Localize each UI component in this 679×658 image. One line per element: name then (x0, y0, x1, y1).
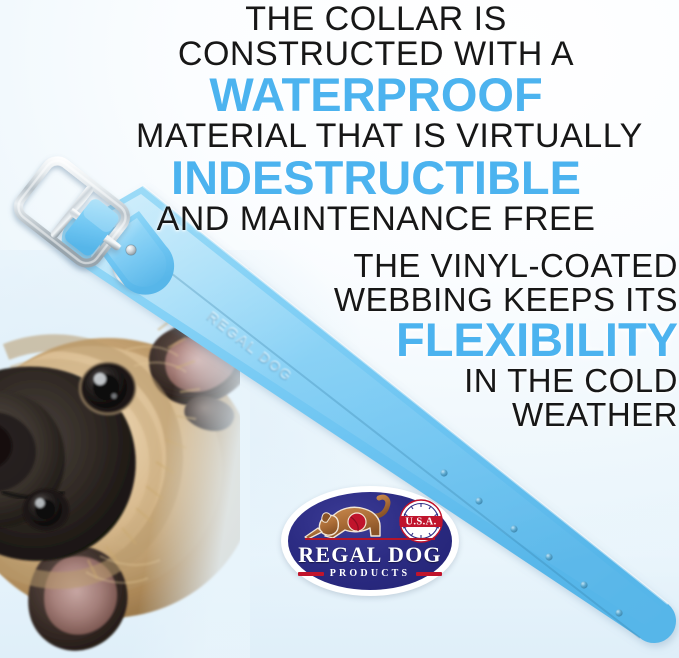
logo-brand-subtitle: PRODUCTS (330, 568, 411, 579)
headline-block-top: THE COLLAR IS CONSTRUCTED WITH A WATERPR… (136, 2, 616, 237)
logo-dash-left (298, 572, 324, 576)
headline-highlight-waterproof: WATERPROOF (136, 71, 616, 119)
headline-highlight-indestructible: INDESTRUCTIBLE (136, 154, 616, 202)
usa-badge-text: U.S.A. (405, 517, 436, 528)
headline-line: THE COLLAR IS (136, 2, 616, 37)
headline-line: MATERIAL THAT IS VIRTUALLY (136, 119, 616, 154)
headline-line: WEBBING KEEPS ITS (318, 283, 678, 317)
marketing-image: REGAL DOG REGAL DOG (0, 0, 679, 658)
headline-line: CONSTRUCTED WITH A (136, 37, 616, 72)
headline-highlight-flexibility: FLEXIBILITY (318, 316, 678, 364)
brand-logo: U.S.A. REGAL DOG PRODUCTS (281, 486, 459, 596)
logo-dog-icon (301, 492, 401, 544)
logo-subtitle-row: PRODUCTS (281, 568, 459, 579)
headline-line: THE VINYL-COATED (318, 249, 678, 283)
headline-line: IN THE COLD (318, 364, 678, 398)
headline-line: AND MAINTENANCE FREE (136, 202, 616, 237)
headline-block-right: THE VINYL-COATED WEBBING KEEPS ITS FLEXI… (318, 249, 678, 432)
logo-divider (305, 538, 435, 540)
logo-dash-right (416, 572, 442, 576)
headline-line: WEATHER (318, 398, 678, 432)
